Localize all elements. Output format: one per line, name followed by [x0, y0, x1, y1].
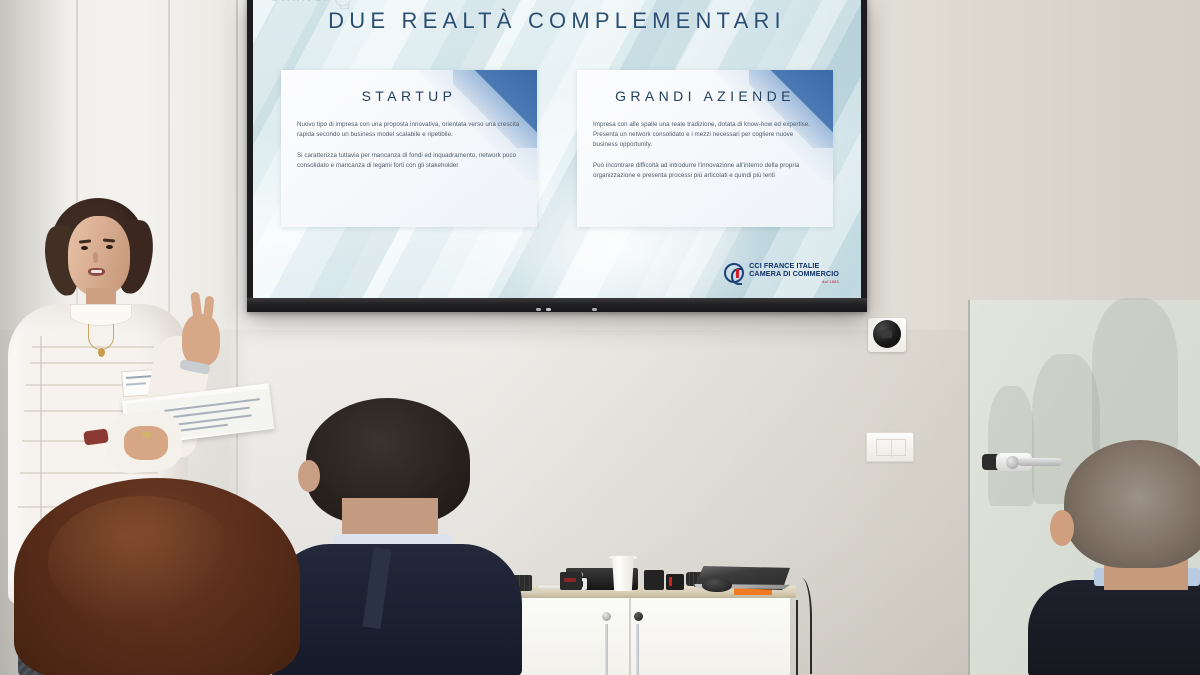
slide-card-startup: STARTUP Nuovo tipo di impresa con una pr… — [281, 70, 537, 227]
cabinet-handle[interactable] — [636, 624, 639, 675]
ring — [142, 432, 151, 437]
blouse-lace-detail — [30, 362, 158, 364]
presentation-slide: STARTUP DUE REALTÀ COMPLEMENTARI STARTUP… — [253, 0, 861, 298]
wall-mounted-display[interactable]: STARTUP DUE REALTÀ COMPLEMENTARI STARTUP… — [247, 0, 867, 312]
conference-room-photo: STARTUP DUE REALTÀ COMPLEMENTARI STARTUP… — [0, 0, 1200, 675]
audience-woman-hair-sheen — [48, 496, 238, 626]
card-paragraph: Impresa con alle spalle una reale tradiz… — [593, 120, 817, 150]
display-bottom-bezel — [247, 298, 867, 312]
power-cable — [786, 578, 812, 674]
cabinet-door-gap — [629, 598, 631, 675]
cabinet-knob-icon[interactable] — [602, 612, 611, 621]
device-led-strip — [564, 578, 576, 582]
cabinet-lock-icon[interactable] — [634, 612, 643, 621]
presenter-face-shading — [68, 216, 130, 296]
lightbulb-gear-icon — [335, 0, 351, 6]
power-cable — [796, 600, 798, 675]
audience-man-right — [1042, 440, 1200, 675]
cci-monogram-icon — [724, 263, 744, 283]
card-paragraph: Nuovo tipo di impresa con una proposta i… — [297, 120, 521, 140]
audience-man-right-hair — [1064, 440, 1200, 568]
computer-mouse[interactable] — [702, 578, 732, 592]
card-heading: GRANDI AZIENDE — [577, 88, 833, 104]
cci-logo-words: CCI FRANCE ITALIE CAMERA DI COMMERCIO da… — [749, 262, 839, 284]
audience-man-foreground — [272, 398, 522, 675]
slide-card-grandi-aziende: GRANDI AZIENDE Impresa con alle spalle u… — [577, 70, 833, 227]
presenter-teeth — [91, 270, 102, 273]
slide-watermark-label: STARTUP — [271, 0, 332, 4]
blouse-collar — [70, 304, 132, 326]
necklace — [88, 324, 114, 350]
black-box-device[interactable] — [644, 570, 664, 590]
cabinet-handle[interactable] — [605, 624, 608, 675]
card-body: Impresa con alle spalle una reale tradiz… — [577, 104, 833, 181]
light-switch-rocker[interactable] — [876, 439, 906, 456]
audience-man-right-sweater — [1028, 580, 1200, 675]
sensor-lens-icon — [881, 330, 892, 338]
audience-man-ear — [298, 460, 320, 492]
card-heading: STARTUP — [281, 88, 537, 104]
card-paragraph: Può incontrare difficoltà ad introdurre … — [593, 161, 817, 181]
light-switch-plate[interactable] — [866, 432, 914, 462]
display-indicator-led — [546, 308, 551, 311]
audience-man-suit — [270, 544, 522, 675]
cci-logo: CCI FRANCE ITALIE CAMERA DI COMMERCIO da… — [724, 262, 839, 284]
presenter-eye — [81, 246, 88, 250]
cci-logo-line2: CAMERA DI COMMERCIO — [749, 270, 839, 278]
door-silhouette-reflection — [1092, 298, 1178, 458]
display-indicator-led — [536, 308, 541, 311]
paper-cup[interactable] — [610, 556, 636, 591]
cci-logo-line3: dal 1885 — [749, 280, 839, 284]
ceiling-dome-sensor — [868, 318, 906, 352]
slide-watermark: STARTUP — [271, 0, 351, 6]
display-indicator-led — [592, 308, 597, 311]
audience-woman-foreground — [14, 478, 300, 675]
card-body: Nuovo tipo di impresa con una proposta i… — [281, 104, 537, 171]
slide-card-row: STARTUP Nuovo tipo di impresa con una pr… — [253, 70, 861, 227]
presenter-nose — [93, 252, 98, 263]
display-panel: STARTUP DUE REALTÀ COMPLEMENTARI STARTUP… — [253, 0, 861, 298]
audience-man-right-ear — [1050, 510, 1074, 546]
door-silhouette-reflection — [988, 386, 1034, 506]
presenter-eye — [106, 245, 113, 249]
necklace-pendant — [98, 348, 105, 357]
card-paragraph: Si caratterizza tuttavia per mancanza di… — [297, 151, 521, 171]
device-red-indicator — [669, 577, 672, 586]
slide-title: DUE REALTÀ COMPLEMENTARI — [253, 8, 861, 34]
